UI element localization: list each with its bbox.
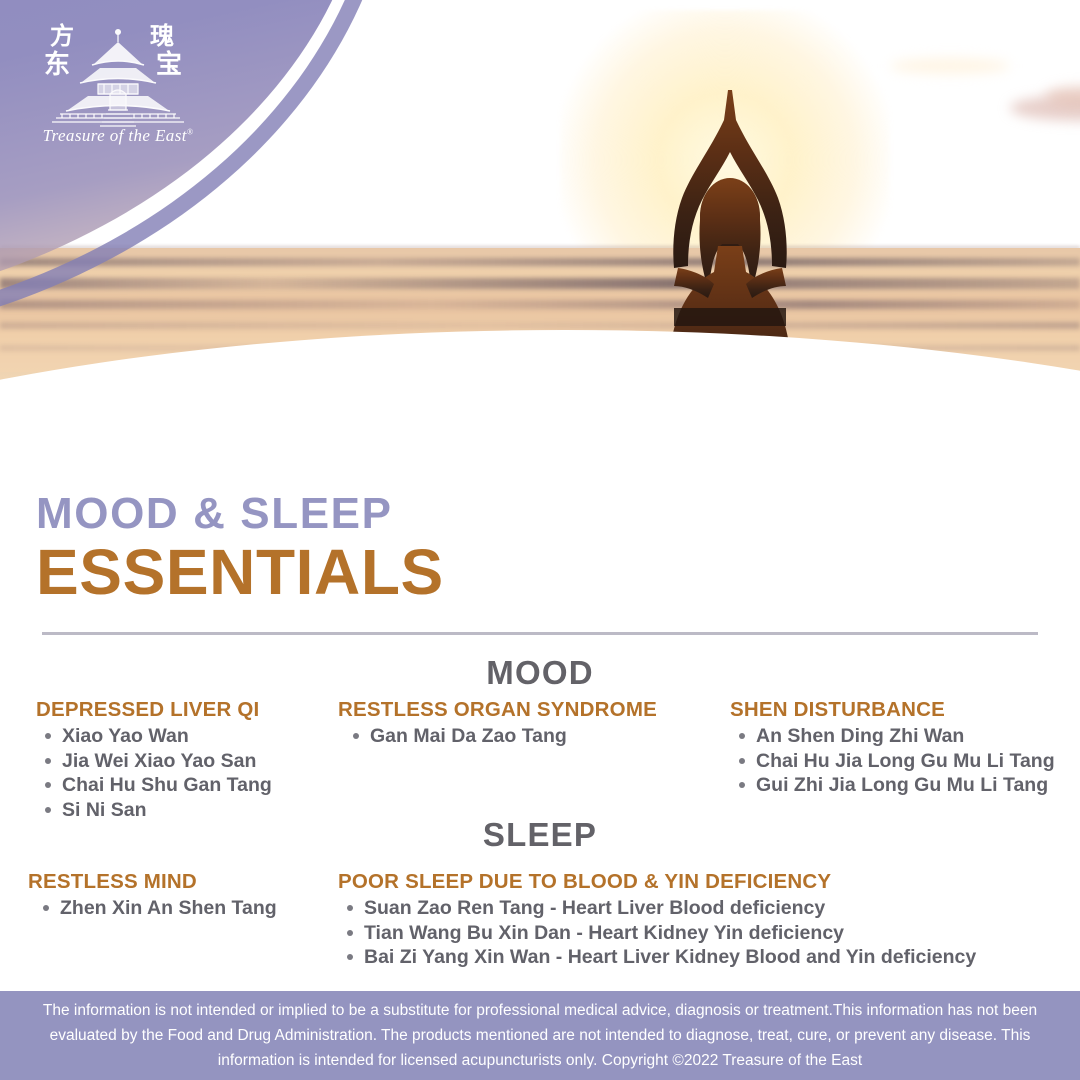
category-restless-mind: RESTLESS MIND Zhen Xin An Shen Tang [28,870,277,921]
disclaimer-text: The information is not intended or impli… [30,998,1050,1073]
category-shen-disturbance: SHEN DISTURBANCE An Shen Ding Zhi Wan Ch… [730,698,1055,798]
list-item: Chai Hu Shu Gan Tang [62,773,272,798]
logo-char-bottom-right: 宝 [156,52,182,78]
logo-tagline: Treasure of the East® [42,126,194,146]
page-title: MOOD & SLEEP ESSENTIALS [36,492,444,604]
title-divider [42,632,1038,635]
logo-tagline-text: Treasure of the East [43,126,187,145]
list-item: Gui Zhi Jia Long Gu Mu Li Tang [756,773,1055,798]
section-heading-sleep: SLEEP [0,816,1080,854]
trademark-mark: ® [187,127,193,136]
remedy-list: Zhen Xin An Shen Tang [28,896,277,921]
category-restless-organ-syndrome: RESTLESS ORGAN SYNDROME Gan Mai Da Zao T… [338,698,657,749]
category-title: RESTLESS MIND [28,870,277,894]
list-item: Gan Mai Da Zao Tang [370,724,657,749]
title-line-2: ESSENTIALS [36,540,444,604]
list-item: Suan Zao Ren Tang - Heart Liver Blood de… [364,896,976,921]
list-item: Chai Hu Jia Long Gu Mu Li Tang [756,749,1055,774]
category-poor-sleep-blood-yin-deficiency: POOR SLEEP DUE TO BLOOD & YIN DEFICIENCY… [338,870,976,970]
list-item: Bai Zi Yang Xin Wan - Heart Liver Kidney… [364,945,976,970]
cloud-shape [890,58,1010,74]
category-title: RESTLESS ORGAN SYNDROME [338,698,657,722]
list-item: Tian Wang Bu Xin Dan - Heart Kidney Yin … [364,921,976,946]
title-line-1: MOOD & SLEEP [36,492,444,536]
remedy-list: Suan Zao Ren Tang - Heart Liver Blood de… [338,896,976,970]
logo-char-top-right: 瑰 [150,24,174,48]
brand-logo[interactable]: 方 瑰 东 宝 Treasure of the East® [42,22,194,150]
remedy-list: An Shen Ding Zhi Wan Chai Hu Jia Long Gu… [730,724,1055,798]
category-title: DEPRESSED LIVER QI [36,698,272,722]
footer-disclaimer-bar: The information is not intended or impli… [0,991,1080,1080]
logo-char-top-left: 方 [50,24,74,48]
poster-canvas: 方 瑰 东 宝 Treasure of the East® MOOD & SLE… [0,0,1080,1080]
list-item: Zhen Xin An Shen Tang [60,896,277,921]
list-item: Jia Wei Xiao Yao San [62,749,272,774]
list-item: Xiao Yao Wan [62,724,272,749]
list-item: An Shen Ding Zhi Wan [756,724,1055,749]
section-heading-mood: MOOD [0,654,1080,692]
remedy-list: Gan Mai Da Zao Tang [338,724,657,749]
category-depressed-liver-qi: DEPRESSED LIVER QI Xiao Yao Wan Jia Wei … [36,698,272,822]
remedy-list: Xiao Yao Wan Jia Wei Xiao Yao San Chai H… [36,724,272,822]
logo-char-bottom-left: 东 [44,52,70,78]
category-title: SHEN DISTURBANCE [730,698,1055,722]
category-title: POOR SLEEP DUE TO BLOOD & YIN DEFICIENCY [338,870,976,894]
